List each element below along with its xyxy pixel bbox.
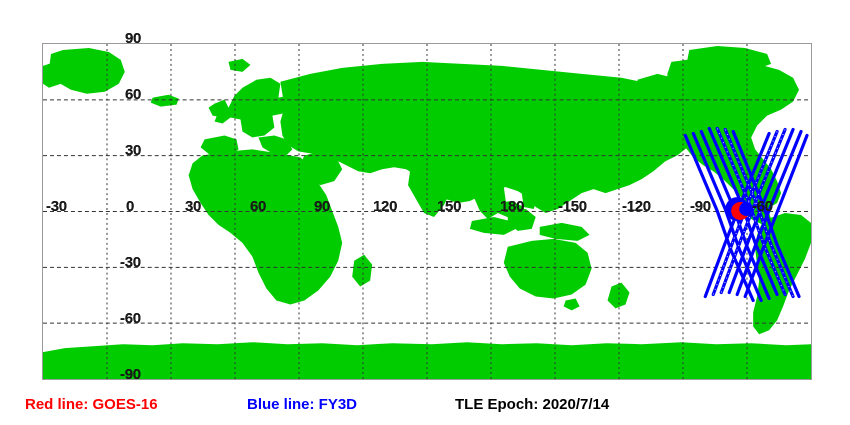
lon-label-m30: -30 (46, 198, 67, 215)
lat-label-60: 60 (125, 86, 141, 103)
lon-label-180: 180 (500, 198, 524, 215)
lat-label-m60: -60 (120, 310, 141, 327)
lon-label-90: 90 (314, 198, 330, 215)
lon-label-120: 120 (373, 198, 397, 215)
lon-label-m150: -150 (558, 198, 587, 215)
land-iceland (151, 95, 179, 107)
land-tasmania (564, 298, 580, 310)
lon-label-60: 60 (250, 198, 266, 215)
lat-label-90: 90 (125, 30, 141, 47)
lon-label-0: 0 (126, 198, 134, 215)
legend-tle-epoch: TLE Epoch: 2020/7/14 (455, 396, 609, 413)
lat-label-m30: -30 (120, 254, 141, 271)
chart-legend: Red line: GOES-16 Blue line: FY3D TLE Ep… (0, 396, 850, 422)
land-madagascar (352, 255, 372, 287)
lon-label-m60: -60 (752, 198, 773, 215)
lat-label-m90: -90 (120, 366, 141, 383)
land-newguinea (540, 223, 590, 241)
lat-label-30: 30 (125, 142, 141, 159)
lon-label-30: 30 (185, 198, 201, 215)
legend-blue-line-fy3d: Blue line: FY3D (247, 396, 357, 413)
land-svalbard (229, 59, 251, 72)
lon-label-150: 150 (437, 198, 461, 215)
land-newzealand (608, 283, 630, 309)
legend-red-line-goes16: Red line: GOES-16 (25, 396, 158, 413)
land-australia (504, 239, 592, 299)
world-map-chart: 90 60 30 -30 -60 -90 -30 0 30 60 90 120 … (0, 0, 850, 425)
lon-label-m120: -120 (622, 198, 651, 215)
lon-label-m90: -90 (690, 198, 711, 215)
